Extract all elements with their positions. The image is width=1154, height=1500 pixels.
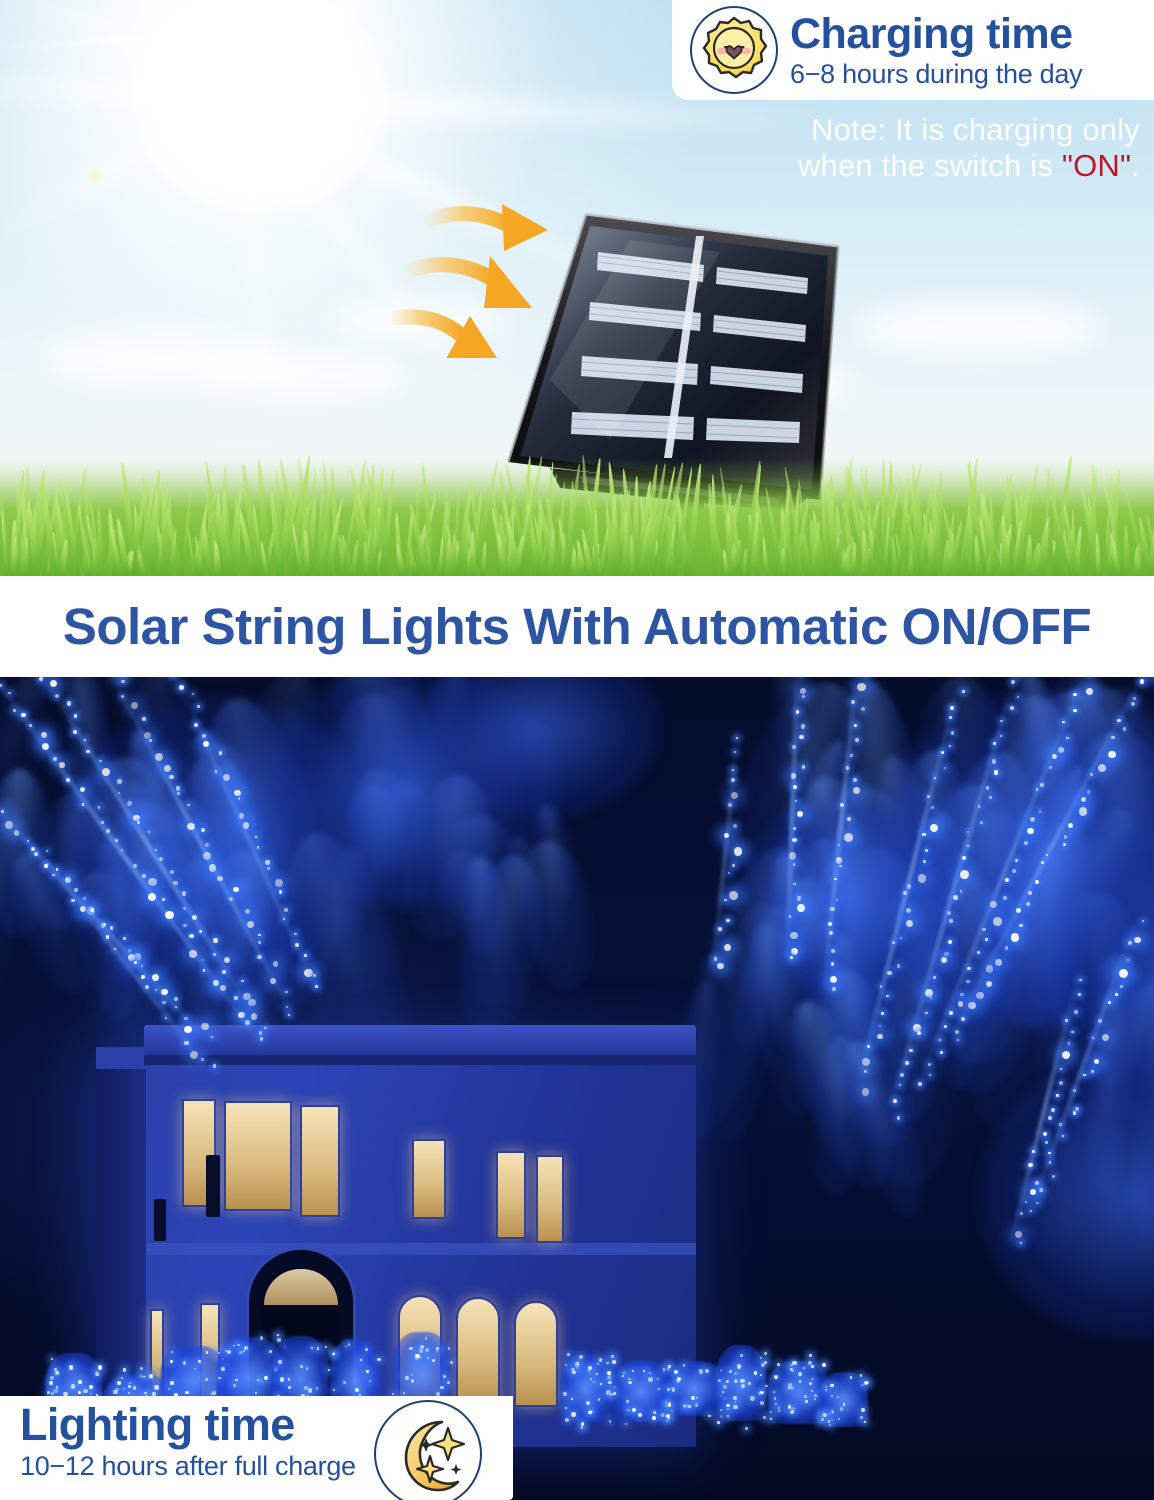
led-bulb <box>182 891 187 896</box>
led-bulb <box>862 1058 870 1066</box>
led-bulb <box>763 1416 766 1419</box>
window-dark <box>206 1155 220 1217</box>
led-bulb <box>729 891 738 900</box>
led-bulb <box>1123 727 1127 731</box>
led-bulb <box>169 775 174 780</box>
led-bulb <box>89 1385 94 1390</box>
led-bulb <box>1108 751 1115 758</box>
led-bulb <box>877 1034 882 1039</box>
led-bulb <box>90 1393 92 1395</box>
led-bulb <box>257 846 259 848</box>
led-bulb <box>668 1403 672 1407</box>
led-bulb <box>1131 702 1135 706</box>
grass-blade <box>415 477 420 576</box>
led-bulb <box>717 963 724 970</box>
led-bulb <box>571 1412 575 1416</box>
led-bulb <box>152 1392 156 1396</box>
roof-eave <box>144 1055 696 1065</box>
led-bulb <box>724 944 731 951</box>
lighting-time-title: Lighting time <box>20 1402 356 1447</box>
led-bulb <box>86 750 89 753</box>
led-bulb <box>219 751 222 754</box>
led-bulb <box>955 1030 959 1034</box>
led-bulb <box>801 724 805 728</box>
led-bulb <box>611 1355 614 1358</box>
led-bulb <box>183 924 186 927</box>
led-bulb <box>1048 1116 1052 1120</box>
led-bulb <box>764 1352 767 1355</box>
led-bulb <box>74 888 78 892</box>
led-bulb <box>705 1369 709 1373</box>
led-bulb <box>49 1381 53 1385</box>
facade-band <box>146 1243 696 1255</box>
led-bulb <box>121 695 124 698</box>
led-bulb <box>708 1415 710 1417</box>
led-bulb <box>797 811 803 817</box>
led-bulb <box>1062 1051 1070 1059</box>
led-bulb <box>714 957 718 961</box>
led-bulb <box>73 730 76 733</box>
led-bulb <box>846 766 850 770</box>
led-bulb <box>258 934 261 937</box>
led-bulb <box>183 907 186 910</box>
led-bulb <box>0 684 2 687</box>
led-bulb <box>184 1026 191 1033</box>
led-bulb <box>56 868 59 871</box>
led-bulb <box>238 1012 244 1018</box>
led-bulb <box>828 1420 830 1422</box>
led-bulb <box>223 774 230 781</box>
led-bulb <box>255 1392 257 1394</box>
led-bulb <box>173 881 177 885</box>
led-bulb <box>814 1398 816 1400</box>
led-bulb <box>790 932 798 940</box>
led-bulb <box>205 1378 208 1381</box>
led-bulb <box>931 806 934 809</box>
led-bulb <box>609 1420 612 1423</box>
lighting-time-text: Lighting time 10−12 hours after full cha… <box>20 1402 356 1480</box>
led-bulb <box>99 760 102 763</box>
led-bulb <box>1041 861 1044 864</box>
led-bulb <box>860 1374 862 1376</box>
led-bulb <box>1039 810 1042 813</box>
note-on-highlight: "ON" <box>1062 148 1131 183</box>
led-bulb <box>1090 773 1092 775</box>
led-bulb <box>315 985 318 988</box>
led-bulb <box>243 822 249 828</box>
led-bulb <box>907 884 911 888</box>
led-bulb <box>811 1390 813 1392</box>
led-bulb <box>142 717 146 721</box>
led-bulb <box>1027 828 1034 835</box>
led-bulb <box>1051 1108 1055 1112</box>
charging-time-badge: Charging time 6−8 hours during the day <box>672 0 1154 100</box>
led-bulb <box>728 803 732 807</box>
note-line-2-prefix: when the switch is <box>798 148 1062 183</box>
window-lit <box>300 1105 340 1217</box>
led-bulb <box>1011 933 1019 941</box>
led-bulb <box>581 1422 585 1426</box>
led-bulb <box>50 680 58 688</box>
led-bulb <box>128 1385 130 1387</box>
led-bulb <box>900 1073 904 1077</box>
led-bulb <box>809 1354 812 1357</box>
led-bulb <box>41 732 47 738</box>
led-bulb <box>285 991 288 994</box>
led-bulb <box>793 883 796 886</box>
led-bulb <box>1075 1107 1079 1111</box>
led-bulb <box>284 908 287 911</box>
led-bulb <box>265 860 270 865</box>
led-bulb <box>857 683 865 691</box>
led-bulb <box>1049 1161 1052 1164</box>
led-bulb <box>814 1394 817 1397</box>
led-bulb <box>941 751 944 754</box>
led-bulb <box>990 901 997 908</box>
led-bulb <box>606 1362 609 1365</box>
led-bulb <box>98 1365 102 1369</box>
led-bulb <box>740 1379 745 1384</box>
led-bulb <box>1133 697 1136 700</box>
led-bulb <box>790 1410 794 1414</box>
lighting-time-subtitle: 10−12 hours after full charge <box>20 1453 356 1480</box>
led-bulb <box>5 821 13 829</box>
led-bulb <box>257 955 261 959</box>
led-bulb <box>770 1411 772 1413</box>
led-bulb <box>905 1061 909 1065</box>
led-bulb <box>1017 696 1019 698</box>
grass-blade <box>988 495 994 576</box>
led-bulb <box>202 734 206 738</box>
led-bulb <box>213 953 216 956</box>
led-bulb <box>134 961 137 964</box>
led-bulb <box>613 1392 616 1395</box>
led-bulb <box>206 1351 209 1354</box>
led-bulb <box>586 1401 590 1405</box>
led-bulb <box>308 1388 312 1392</box>
crescent-moon-stars-icon <box>374 1400 482 1500</box>
led-bulb <box>82 803 85 806</box>
led-bulb <box>861 707 865 711</box>
led-bulb <box>366 1370 369 1373</box>
led-bulb <box>194 1368 196 1370</box>
led-bulb <box>74 714 78 718</box>
led-bulb <box>887 971 892 976</box>
sun-flare-core <box>130 0 390 215</box>
led-bulb <box>1127 959 1129 961</box>
led-bulb <box>828 922 832 926</box>
led-bulb <box>677 1377 681 1381</box>
led-bulb <box>825 1386 827 1388</box>
led-bulb <box>14 830 20 836</box>
led-bulb <box>260 1336 263 1339</box>
led-bulb <box>409 1347 413 1351</box>
charging-note: Note: It is charging only when the switc… <box>710 112 1140 185</box>
led-bulb <box>614 1386 616 1388</box>
led-bulb <box>377 1358 380 1361</box>
grass-blade <box>685 463 703 576</box>
led-bulb <box>962 690 965 693</box>
led-bulb <box>581 1426 583 1428</box>
led-bulb <box>177 792 180 795</box>
led-bulb <box>171 1351 173 1353</box>
led-bulb <box>726 919 730 923</box>
led-bulb <box>229 897 233 901</box>
led-bulb <box>1086 688 1093 695</box>
charging-time-title: Charging time <box>790 13 1082 56</box>
led-bulb <box>277 1334 279 1336</box>
led-bulb <box>792 838 796 842</box>
led-bulb <box>993 917 1002 926</box>
led-bulb <box>162 898 166 902</box>
led-bulb <box>748 1382 751 1385</box>
led-bulb <box>844 833 853 842</box>
led-bulb <box>162 1001 166 1005</box>
led-bulb <box>251 1013 257 1019</box>
led-bulb <box>184 1041 189 1046</box>
led-bulb <box>918 874 927 883</box>
window-lit <box>224 1101 292 1211</box>
led-bulb <box>718 1379 721 1382</box>
led-bulb <box>731 778 735 782</box>
led-bulb <box>233 1384 236 1387</box>
led-bulb <box>992 759 996 763</box>
led-bulb <box>947 911 951 915</box>
led-bulb <box>961 1017 965 1021</box>
led-bulb <box>953 895 958 900</box>
led-bulb <box>831 1410 835 1414</box>
led-bulb <box>203 969 205 971</box>
led-bulb <box>802 695 805 698</box>
led-bulb <box>993 742 996 745</box>
led-bulb <box>638 1413 642 1417</box>
led-bulb <box>55 694 59 698</box>
led-bulb <box>145 985 149 989</box>
led-bulb <box>665 1401 668 1404</box>
window-lit <box>496 1151 526 1239</box>
product-title-band: Solar String Lights With Automatic ON/OF… <box>0 576 1154 677</box>
led-bulb <box>46 850 48 852</box>
led-bulb <box>59 762 64 767</box>
led-bulb <box>683 1405 685 1407</box>
led-bulb <box>222 970 226 974</box>
led-bulb <box>1028 1163 1032 1167</box>
led-bulb <box>260 1037 264 1041</box>
led-bulb <box>791 773 796 778</box>
led-bulb <box>106 935 110 939</box>
led-bulb <box>960 870 969 879</box>
led-bulb <box>892 941 895 944</box>
led-bulb <box>267 867 270 870</box>
led-bulb <box>197 705 200 708</box>
led-bulb <box>986 786 990 790</box>
led-bulb <box>71 1384 75 1388</box>
led-bulb <box>957 1039 959 1041</box>
led-bulb <box>1005 946 1008 949</box>
led-bulb <box>799 1380 801 1382</box>
led-bulb <box>95 1371 100 1376</box>
led-bulb <box>215 770 217 772</box>
led-bulb <box>958 1001 964 1007</box>
led-bulb <box>213 938 218 943</box>
led-bulb <box>1025 1201 1027 1203</box>
cloud <box>855 300 1105 356</box>
led-bulb <box>985 938 988 941</box>
led-bulb <box>53 1389 57 1393</box>
led-bulb <box>811 1365 815 1369</box>
led-bulb <box>1098 1019 1102 1023</box>
led-bulb <box>1134 937 1141 944</box>
led-bulb <box>1030 1210 1032 1212</box>
led-bulb <box>317 1347 319 1349</box>
led-bulb <box>201 828 205 832</box>
led-bulb <box>579 1355 583 1359</box>
led-bulb <box>13 709 16 712</box>
led-bulb <box>793 863 795 865</box>
led-bulb <box>1036 788 1038 790</box>
led-bulb <box>233 887 238 892</box>
led-bulb <box>960 993 964 997</box>
charging-time-text: Charging time 6−8 hours during the day <box>790 13 1082 88</box>
led-bulb <box>804 1395 807 1398</box>
led-bulb <box>962 856 966 860</box>
led-bulb <box>1045 1141 1048 1144</box>
led-bulb <box>933 976 936 979</box>
led-bulb <box>203 852 211 860</box>
led-bulb <box>115 839 118 842</box>
led-bulb <box>141 965 143 967</box>
led-bulb <box>718 927 722 931</box>
window-lit <box>456 1297 500 1405</box>
led-bulb <box>1052 1175 1055 1178</box>
led-bulb <box>1032 1150 1035 1153</box>
led-bulb <box>66 878 69 881</box>
led-bulb <box>667 1388 670 1391</box>
led-bulb <box>31 847 35 851</box>
led-bulb <box>672 1389 675 1392</box>
led-bulb <box>1020 1212 1023 1215</box>
led-bulb <box>1063 843 1066 846</box>
led-bulb <box>1091 1070 1094 1073</box>
led-bulb <box>187 804 190 807</box>
led-bulb <box>861 1408 865 1412</box>
led-bulb <box>277 1338 281 1342</box>
led-bulb <box>369 1380 371 1382</box>
led-bulb <box>754 1371 758 1375</box>
window-lit <box>412 1139 446 1219</box>
grass-blade <box>762 538 770 576</box>
led-bulb <box>1024 841 1028 845</box>
led-bulb <box>192 693 194 695</box>
led-bulb <box>628 1378 630 1380</box>
led-bulb <box>201 1023 209 1031</box>
led-bulb <box>185 1391 189 1395</box>
led-bulb <box>141 975 145 979</box>
led-bulb <box>880 985 883 988</box>
led-bulb <box>280 1377 284 1381</box>
led-bulb <box>117 1381 121 1385</box>
led-bulb <box>237 1344 240 1347</box>
led-bulb <box>90 908 94 912</box>
led-bulb <box>134 953 142 961</box>
led-bulb <box>1062 721 1064 723</box>
window-lit <box>514 1301 558 1407</box>
led-bulb <box>653 1411 656 1414</box>
led-bulb <box>745 1427 748 1430</box>
led-bulb <box>1035 1181 1039 1185</box>
led-bulb <box>627 1409 629 1411</box>
led-bulb <box>300 1365 303 1368</box>
led-bulb <box>696 1397 698 1399</box>
led-bulb <box>218 1377 220 1379</box>
led-bulb <box>699 1369 704 1374</box>
led-bulb <box>567 1353 570 1356</box>
led-bulb <box>1060 1068 1062 1070</box>
led-bulb <box>187 823 195 831</box>
note-line-2-suffix: . <box>1131 148 1140 183</box>
led-bulb <box>269 1350 272 1353</box>
led-bulb <box>853 778 857 782</box>
led-bulb <box>1087 790 1090 793</box>
led-bulb <box>980 821 983 824</box>
led-bulb <box>723 1385 727 1389</box>
led-bulb <box>260 1380 262 1382</box>
led-bulb <box>103 923 106 926</box>
led-bulb <box>170 1381 174 1385</box>
led-bulb <box>994 770 998 774</box>
led-bulb <box>967 831 969 833</box>
grass-blades <box>0 426 1154 576</box>
led-bulb <box>949 745 951 747</box>
led-bulb <box>405 1376 409 1380</box>
led-bulb <box>201 1058 204 1061</box>
led-bulb <box>1010 706 1014 710</box>
led-bulb <box>1140 679 1145 684</box>
led-bulb <box>55 1371 58 1374</box>
led-bulb <box>588 1411 592 1415</box>
led-bulb <box>283 918 285 920</box>
led-bulb <box>128 949 132 953</box>
led-bulb <box>52 874 55 877</box>
led-bulb <box>788 1387 790 1389</box>
led-bulb <box>793 827 796 830</box>
led-bulb <box>71 899 74 902</box>
led-bulb <box>152 974 158 980</box>
led-bulb <box>960 890 963 893</box>
led-bulb <box>304 969 312 977</box>
lit-bush <box>560 1354 612 1422</box>
charging-time-subtitle: 6−8 hours during the day <box>790 61 1082 88</box>
led-bulb <box>144 1392 146 1394</box>
led-bulb <box>922 833 926 837</box>
led-bulb <box>264 1027 267 1030</box>
led-bulb <box>1073 709 1076 712</box>
led-bulb <box>860 1416 863 1419</box>
led-bulb <box>733 824 737 828</box>
led-bulb <box>652 1416 656 1420</box>
tree-glow-blob <box>740 797 960 997</box>
led-bulb <box>279 890 282 893</box>
led-bulb <box>245 1020 250 1025</box>
led-bulb <box>666 1414 670 1418</box>
led-bulb <box>648 1377 652 1381</box>
led-bulb <box>612 1360 617 1365</box>
led-bulb <box>155 753 163 761</box>
window-lit <box>536 1155 564 1243</box>
led-bulb <box>1115 993 1118 996</box>
led-bulb <box>44 864 48 868</box>
led-bulb <box>189 934 194 939</box>
